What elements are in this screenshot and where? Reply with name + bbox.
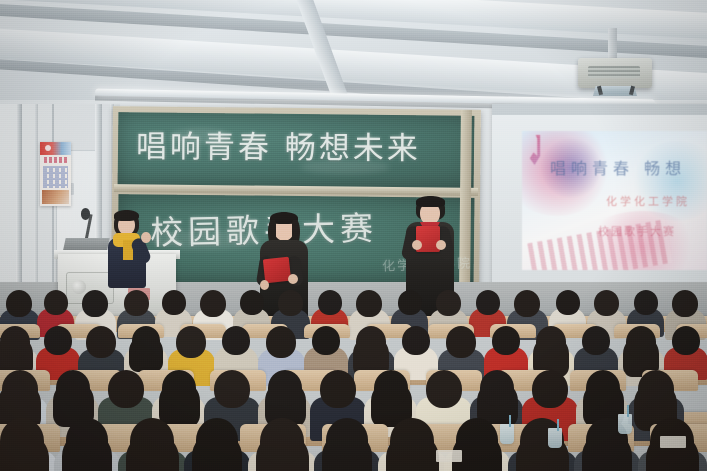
student-head [638,370,674,408]
student-head [536,326,566,358]
student-head [82,290,108,317]
student-head [44,326,72,355]
student-head [278,290,303,316]
hand-right [436,240,446,250]
student-head [426,370,462,408]
poster-photo [42,190,69,204]
student-head [586,370,620,406]
hair-fringe [416,196,445,207]
student-head [312,326,340,355]
student-head [124,290,149,316]
student-head [0,418,44,464]
drink-cup [548,428,562,448]
student-head [86,326,116,358]
student-head [56,370,90,406]
student-head [162,290,186,315]
slide-title: 唱响青春 畅想 [550,155,686,179]
hand-right [288,274,298,284]
student-head [108,370,144,408]
student-head [514,290,540,317]
hair-fringe [114,210,139,221]
student-head [626,326,656,358]
wall-pipe [34,104,38,304]
drink-cup [618,414,632,434]
student-head [594,290,619,316]
student-head [326,418,368,462]
poster-emblem [45,145,51,151]
student-head [132,326,160,355]
student-head [456,418,498,462]
student-head [320,370,356,408]
wall-poster [40,142,71,206]
student-head [240,290,264,315]
student-head [268,370,302,406]
student-head [200,290,226,317]
drink-cup [500,424,514,444]
seated-students [0,286,707,471]
student-head [176,326,206,358]
student-head [556,290,580,315]
student-head [480,370,514,406]
student-head [582,326,610,355]
student-head [492,326,520,355]
blackboard-headline: 唱响青春 畅想未来 [136,121,421,168]
paper-sheet [660,436,686,448]
student-head [402,326,430,355]
student-head [532,370,568,408]
student-head [222,326,250,355]
classroom-photo: 唱响青春 畅想未来 校园歌手大赛 化学化工学院 唱响青春 畅想 化学化工学院 校… [0,0,707,471]
drink-straw [509,415,511,427]
projector-mount-pole [608,28,617,62]
student-head [162,370,196,406]
slide-subtitle-org: 化学化工学院 [606,193,690,209]
student-head [356,326,386,358]
poster-text-grid [43,166,68,188]
poster-title-lines [44,157,67,163]
drink-straw [627,405,629,417]
hand [141,232,151,243]
student-head [266,326,296,358]
red-script-folder [263,257,291,284]
student-head [634,290,658,315]
host-at-podium [104,210,150,288]
student-head [6,290,32,317]
microphone-head [81,208,90,220]
student-head [130,418,174,464]
student-head [260,418,304,464]
projected-slide: 唱响青春 畅想 化学化工学院 校园歌手大赛 [522,131,707,270]
student-head [672,326,700,355]
screen-top-bar [492,104,707,115]
student-head [66,418,108,462]
student-head [436,290,461,316]
student-head [374,370,408,406]
slide-subtitle-event: 校园歌手大赛 [598,223,676,239]
student-head [214,370,250,408]
student-head [0,326,30,358]
drink-straw [557,419,559,431]
student-head [196,418,238,462]
projector-vent [588,66,640,78]
student-head [318,290,342,315]
student-head [476,290,500,315]
paper-sheet [436,450,462,462]
student-head [44,290,68,315]
student-head [398,290,422,315]
student-head [390,418,434,464]
student-head [672,290,698,317]
student-head [446,326,476,358]
student-head [2,370,38,408]
student-head [356,290,382,317]
slide-glow [632,141,707,221]
wall-pipe [16,104,22,304]
hand-left [412,240,422,250]
